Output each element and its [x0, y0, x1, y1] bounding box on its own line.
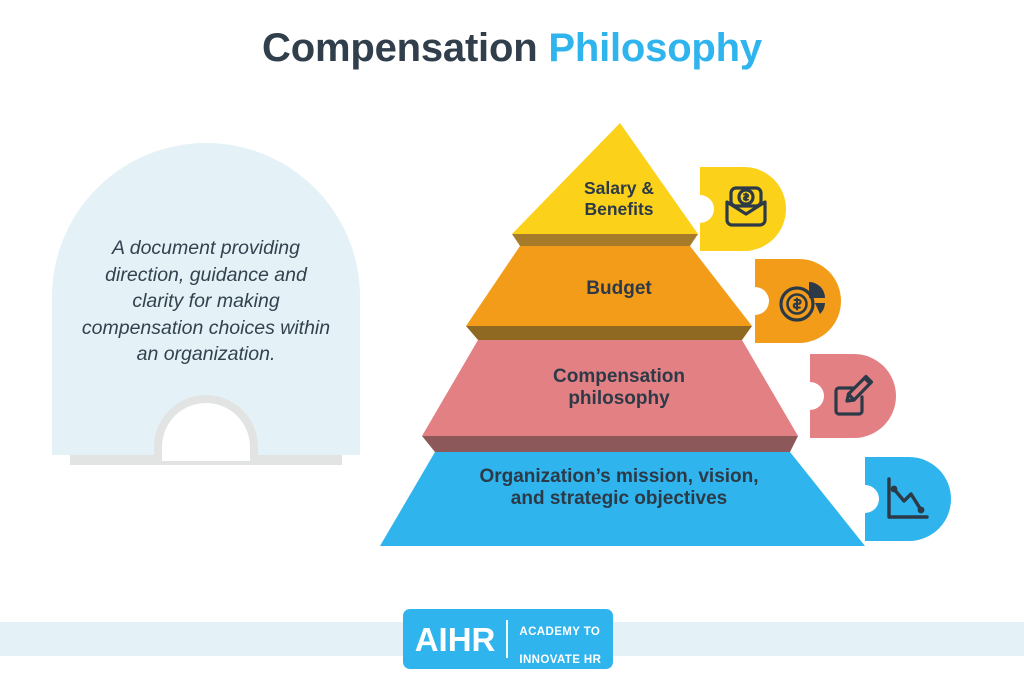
page-title: Compensation Philosophy [0, 26, 1024, 71]
logo-brand-text: AIHR [415, 623, 507, 656]
pyramid-level-1-polygon [512, 123, 698, 234]
definition-card: A document providing direction, guidance… [52, 143, 360, 465]
logo-tagline-line1: ACADEMY TO [519, 626, 600, 638]
definition-text: A document providing direction, guidance… [78, 235, 334, 368]
logo-divider [506, 620, 508, 658]
badge-budget[interactable] [751, 257, 843, 345]
badge-shape-1 [700, 167, 786, 251]
definition-card-arch: A document providing direction, guidance… [52, 143, 360, 455]
badge-shape-3 [810, 354, 896, 438]
logo-tagline-line2: INNOVATE HR [519, 654, 601, 666]
infographic-canvas: Compensation Philosophy A document provi… [0, 0, 1024, 680]
page-title-primary: Compensation [262, 26, 537, 70]
logo-tagline: ACADEMY TO INNOVATE HR [508, 611, 601, 667]
badge-mission-vision[interactable] [861, 455, 953, 543]
badge-compensation-philosophy[interactable] [806, 352, 898, 440]
page-title-accent: Philosophy [548, 26, 762, 70]
badge-salary-benefits[interactable] [696, 165, 788, 253]
aihr-logo[interactable]: AIHR ACADEMY TO INNOVATE HR [403, 609, 613, 669]
